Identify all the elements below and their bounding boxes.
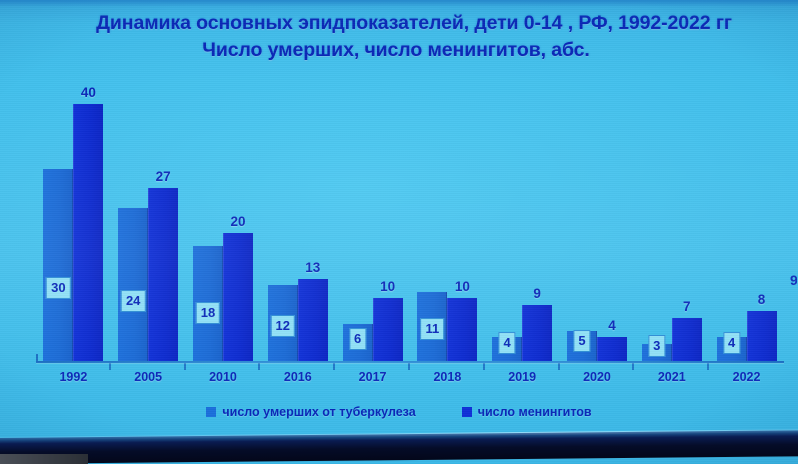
bar-series2-2021: 7	[672, 318, 702, 363]
x-axis-label-2010: 2010	[186, 370, 261, 384]
bar-group-2021: 37	[634, 78, 709, 363]
value-label-series1-2010: 18	[196, 302, 220, 324]
value-label-series2-2017: 10	[380, 280, 395, 294]
bar-series1-2017: 6	[343, 324, 373, 363]
x-axis-tick	[258, 362, 260, 370]
bar-series1-2018: 11	[417, 292, 447, 363]
value-label-series2-2022: 8	[758, 293, 766, 307]
bar-series2-2019: 9	[522, 305, 552, 363]
legend-label-2: число менингитов	[478, 405, 592, 419]
square-swatch-icon	[462, 407, 472, 417]
chart-legend: число умерших от туберкулезачисло менинг…	[0, 405, 798, 419]
bar-groups: 3040242718201213610111049543748	[36, 78, 784, 363]
bar-series2-2005: 27	[148, 188, 178, 363]
x-axis-labels: 1992200520102016201720182019202020212022	[36, 370, 784, 384]
legend-item-2: число менингитов	[462, 405, 592, 419]
bar-series2-2017: 10	[373, 298, 403, 363]
value-label-series2-2021: 7	[683, 300, 691, 314]
value-label-series1-2005: 24	[121, 290, 145, 312]
bar-group-2018: 1110	[410, 78, 485, 363]
bar-series1-2020: 5	[567, 331, 597, 363]
value-label-series1-2017: 6	[349, 328, 366, 350]
bar-series2-2022: 8	[747, 311, 777, 363]
slide-photo: Динамика основных эпидпоказателей, дети …	[0, 0, 798, 464]
x-axis-label-2020: 2020	[560, 370, 635, 384]
x-axis-tick	[707, 362, 709, 370]
bar-series2-2020: 4	[597, 337, 627, 363]
x-axis-label-2019: 2019	[485, 370, 560, 384]
bar-series2-1992: 40	[73, 104, 103, 363]
bar-series1-2016: 12	[268, 285, 298, 363]
bar-series2-2016: 13	[298, 279, 328, 363]
x-axis-tick	[184, 362, 186, 370]
legend-label-1: число умерших от туберкулеза	[222, 405, 415, 419]
bar-group-2016: 1213	[260, 78, 335, 363]
x-axis-label-1992: 1992	[36, 370, 111, 384]
legend-item-1: число умерших от туберкулеза	[206, 405, 415, 419]
value-label-series1-2021: 3	[648, 335, 665, 357]
x-axis-label-2021: 2021	[634, 370, 709, 384]
value-label-series2-2016: 13	[305, 261, 320, 275]
square-swatch-icon	[206, 407, 216, 417]
value-label-series1-1992: 30	[46, 277, 70, 299]
value-label-series2-2018: 10	[455, 280, 470, 294]
bar-group-1992: 3040	[36, 78, 111, 363]
value-label-series2-1992: 40	[81, 86, 96, 100]
value-label-series2-2019: 9	[533, 287, 541, 301]
value-label-series1-2020: 5	[573, 330, 590, 352]
bar-chart-plot-area: 3040242718201213610111049543748	[36, 78, 784, 363]
x-axis-tick	[333, 362, 335, 370]
bar-group-2022: 48	[709, 78, 784, 363]
bar-series2-2018: 10	[447, 298, 477, 363]
bar-series1-1992: 30	[43, 169, 73, 363]
x-axis-tick	[558, 362, 560, 370]
bar-series1-2005: 24	[118, 208, 148, 363]
value-label-series1-2016: 12	[271, 315, 295, 337]
x-axis-label-2016: 2016	[260, 370, 335, 384]
value-label-series1-2019: 4	[499, 332, 516, 354]
bar-group-2017: 610	[335, 78, 410, 363]
x-axis-tick	[408, 362, 410, 370]
bar-series2-2010: 20	[223, 233, 253, 363]
x-axis-tick	[109, 362, 111, 370]
x-axis-line	[36, 361, 784, 363]
x-axis-label-2017: 2017	[335, 370, 410, 384]
x-axis-label-2005: 2005	[111, 370, 186, 384]
bar-series1-2019: 4	[492, 337, 522, 363]
x-axis-tick	[632, 362, 634, 370]
bar-group-2010: 1820	[186, 78, 261, 363]
value-label-series2-2005: 27	[156, 170, 171, 184]
x-axis-label-2018: 2018	[410, 370, 485, 384]
bar-group-2019: 49	[485, 78, 560, 363]
bar-group-2005: 2427	[111, 78, 186, 363]
value-label-series2-2020: 4	[608, 319, 616, 333]
bar-series1-2010: 18	[193, 246, 223, 363]
x-axis-label-2022: 2022	[709, 370, 784, 384]
y-axis-cap	[36, 354, 38, 363]
x-axis-tick	[483, 362, 485, 370]
bar-series1-2022: 4	[717, 337, 747, 363]
bar-group-2020: 54	[560, 78, 635, 363]
value-label-series1-2022: 4	[723, 332, 740, 354]
value-label-series1-2018: 11	[421, 318, 445, 340]
value-label-series2-2010: 20	[230, 215, 245, 229]
